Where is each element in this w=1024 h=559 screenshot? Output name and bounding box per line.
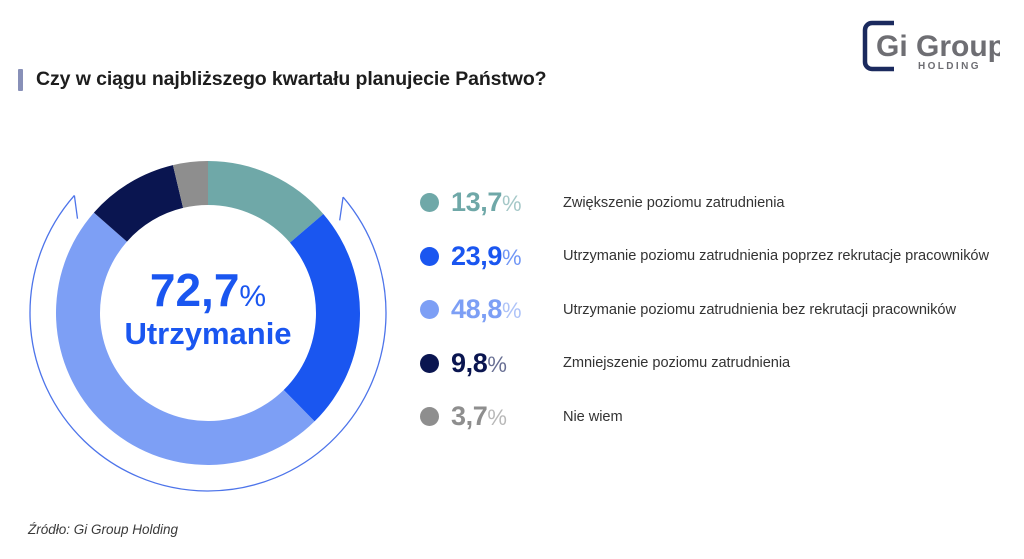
legend-color-dot — [420, 247, 439, 266]
chart-legend: 13,7%Zwiększenie poziomu zatrudnienia23,… — [420, 176, 1016, 444]
legend-value: 48,8% — [451, 294, 563, 325]
source-note: Źródło: Gi Group Holding — [28, 522, 178, 537]
legend-value-number: 9,8 — [451, 348, 487, 378]
legend-row: 23,9%Utrzymanie poziomu zatrudnienia pop… — [420, 230, 1016, 284]
legend-value-number: 3,7 — [451, 401, 487, 431]
page-title-text: Czy w ciągu najbliższego kwartału planuj… — [36, 68, 547, 91]
legend-value-number: 48,8 — [451, 294, 502, 324]
legend-value: 13,7% — [451, 187, 563, 218]
legend-value: 3,7% — [451, 401, 563, 432]
brand-logo: Gi Group HOLDING — [860, 18, 1000, 76]
donut-segment — [284, 214, 360, 421]
legend-percent-symbol: % — [502, 191, 521, 216]
legend-row: 9,8%Zmniejszenie poziomu zatrudnienia — [420, 337, 1016, 391]
legend-value-number: 23,9 — [451, 241, 502, 271]
donut-chart: 72,7% Utrzymanie — [8, 128, 408, 498]
donut-center-label: Utrzymanie — [124, 316, 291, 351]
legend-color-dot — [420, 354, 439, 373]
legend-row: 3,7%Nie wiem — [420, 390, 1016, 444]
legend-percent-symbol: % — [502, 298, 521, 323]
legend-color-dot — [420, 407, 439, 426]
legend-description: Zmniejszenie poziomu zatrudnienia — [563, 355, 790, 371]
legend-percent-symbol: % — [487, 405, 506, 430]
legend-percent-symbol: % — [487, 352, 506, 377]
legend-description: Utrzymanie poziomu zatrudnienia bez rekr… — [563, 302, 956, 318]
legend-description: Nie wiem — [563, 409, 623, 425]
legend-row: 13,7%Zwiększenie poziomu zatrudnienia — [420, 176, 1016, 230]
legend-color-dot — [420, 193, 439, 212]
legend-value-number: 13,7 — [451, 187, 502, 217]
legend-color-dot — [420, 300, 439, 319]
legend-value: 23,9% — [451, 241, 563, 272]
highlight-arc-tick — [340, 197, 343, 220]
legend-row: 48,8%Utrzymanie poziomu zatrudnienia bez… — [420, 283, 1016, 337]
legend-value: 9,8% — [451, 348, 563, 379]
logo-subtitle: HOLDING — [918, 61, 981, 72]
highlight-arc-tick — [74, 195, 77, 218]
logo-wordmark: Gi Group — [876, 30, 1000, 63]
legend-description: Zwiększenie poziomu zatrudnienia — [563, 195, 784, 211]
donut-center-value: 72,7% — [150, 264, 266, 316]
page-title: Czy w ciągu najbliższego kwartału planuj… — [18, 68, 547, 91]
title-accent-bar — [18, 69, 23, 91]
legend-description: Utrzymanie poziomu zatrudnienia poprzez … — [563, 248, 989, 264]
legend-percent-symbol: % — [502, 245, 521, 270]
